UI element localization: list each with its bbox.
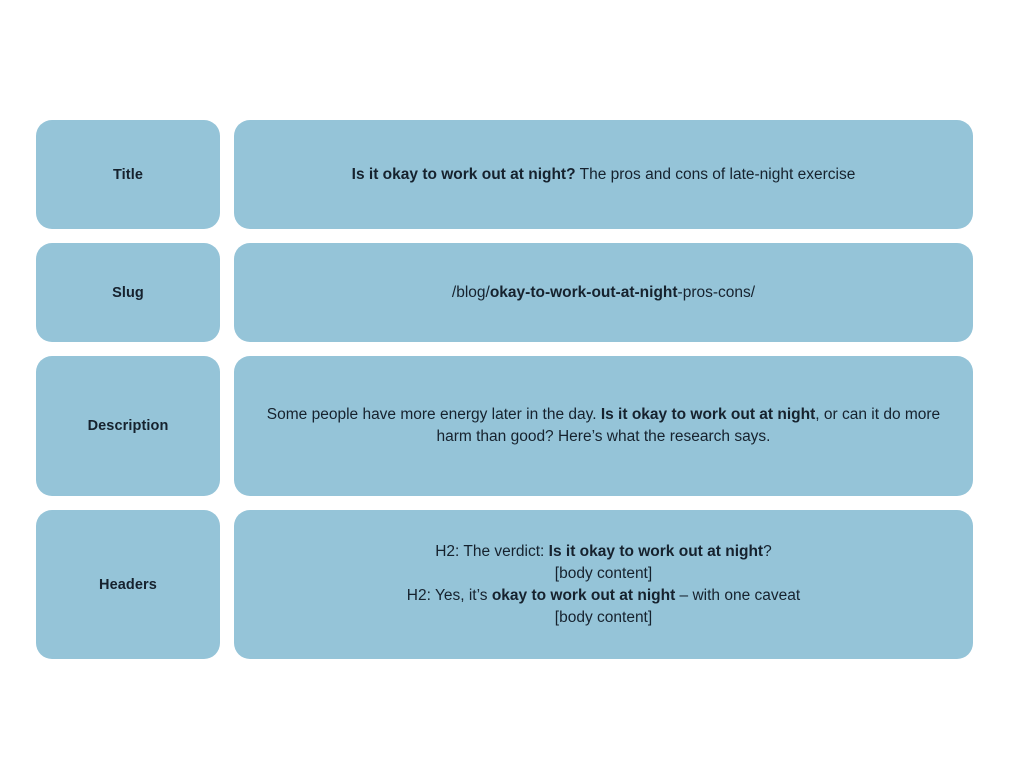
row-label-headers: Headers xyxy=(36,510,220,659)
header-line: H2: Yes, it’s okay to work out at night … xyxy=(407,585,800,607)
row-label-text: Description xyxy=(88,418,169,434)
row-label-description: Description xyxy=(36,356,220,496)
row-label-text: Headers xyxy=(99,577,157,593)
description-value-text: Some people have more energy later in th… xyxy=(260,404,947,448)
row-label-title: Title xyxy=(36,120,220,229)
seo-content-brief-table: Title Is it okay to work out at night? T… xyxy=(36,120,973,659)
header-line: [body content] xyxy=(407,563,800,585)
row-value-description: Some people have more energy later in th… xyxy=(234,356,973,496)
table-row: Slug /blog/okay-to-work-out-at-night-pro… xyxy=(36,243,973,342)
title-value-text: Is it okay to work out at night? The pro… xyxy=(352,164,856,186)
headers-value-text: H2: The verdict: Is it okay to work out … xyxy=(407,541,800,629)
slug-value-text: /blog/okay-to-work-out-at-night-pros-con… xyxy=(452,282,755,304)
header-line: [body content] xyxy=(407,607,800,629)
header-line: H2: The verdict: Is it okay to work out … xyxy=(407,541,800,563)
table-row: Title Is it okay to work out at night? T… xyxy=(36,120,973,229)
row-value-headers: H2: The verdict: Is it okay to work out … xyxy=(234,510,973,659)
row-label-text: Slug xyxy=(112,285,144,301)
row-label-slug: Slug xyxy=(36,243,220,342)
row-value-title: Is it okay to work out at night? The pro… xyxy=(234,120,973,229)
table-row: Headers H2: The verdict: Is it okay to w… xyxy=(36,510,973,659)
row-label-text: Title xyxy=(113,167,143,183)
row-value-slug: /blog/okay-to-work-out-at-night-pros-con… xyxy=(234,243,973,342)
table-row: Description Some people have more energy… xyxy=(36,356,973,496)
